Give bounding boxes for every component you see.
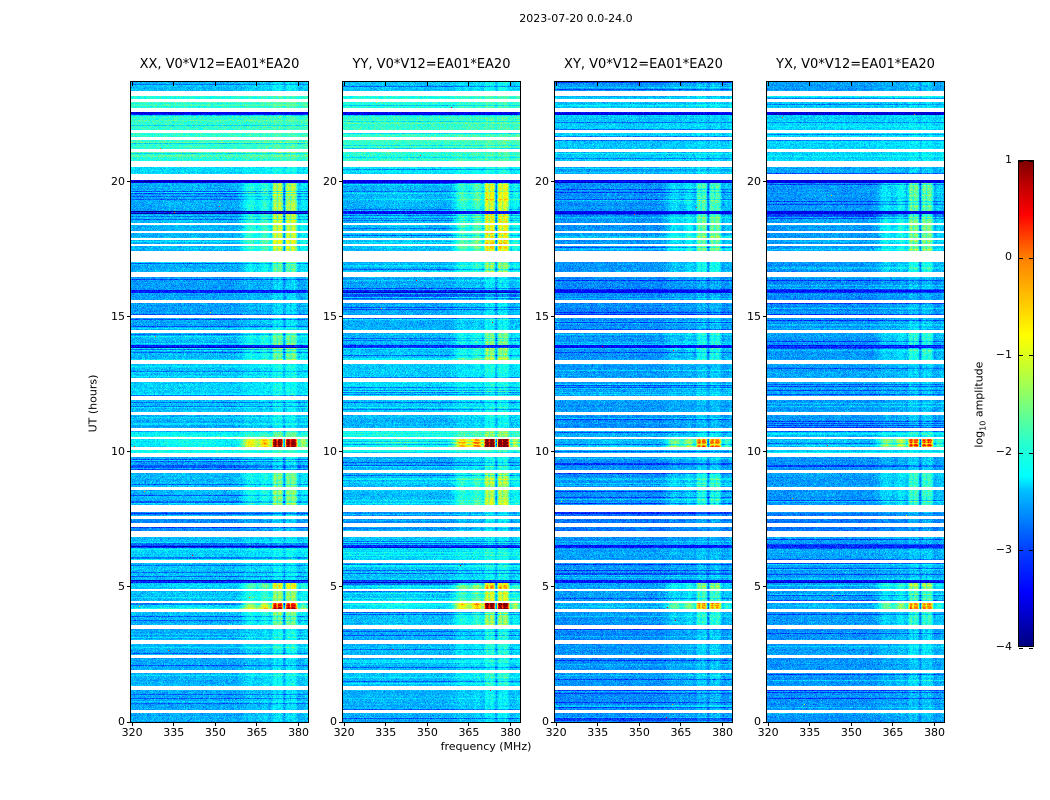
- y-tick-mark: [551, 451, 555, 452]
- colorbar-tick-label: 1: [962, 154, 1012, 165]
- colorbar-label: log10 amplitude: [972, 355, 987, 455]
- y-tick-mark: [551, 181, 555, 182]
- y-tick-label: 15: [283, 311, 337, 322]
- waterfall-panel-yy[interactable]: YY, V0*V12=EA01*EA2005101520320335350365…: [343, 82, 520, 722]
- x-tick-mark-top: [215, 82, 216, 86]
- x-axis-label: frequency (MHz): [386, 740, 586, 753]
- y-tick-label: 20: [71, 176, 125, 187]
- x-tick-mark-top: [344, 82, 345, 86]
- y-tick-label: 10: [283, 446, 337, 457]
- y-tick-mark: [339, 722, 343, 723]
- colorbar-tick-mark: [1019, 648, 1023, 649]
- y-tick-mark: [127, 722, 131, 723]
- x-tick-mark-top: [132, 82, 133, 86]
- y-tick-mark: [127, 586, 131, 587]
- colorbar-label-suffix: amplitude: [972, 362, 985, 421]
- x-tick-mark-top: [427, 82, 428, 86]
- y-tick-label: 15: [71, 311, 125, 322]
- y-tick-mark: [551, 722, 555, 723]
- x-tick-mark-top: [934, 82, 935, 86]
- figure-title: 2023-07-20 0.0-24.0: [376, 13, 776, 25]
- y-tick-label: 20: [707, 176, 761, 187]
- x-tick-mark-top: [256, 82, 257, 86]
- x-tick-mark-top: [597, 82, 598, 86]
- x-tick-mark-top: [510, 82, 511, 86]
- y-tick-label: 5: [707, 581, 761, 592]
- x-tick-mark-top: [722, 82, 723, 86]
- y-tick-label: 5: [283, 581, 337, 592]
- y-tick-mark: [339, 181, 343, 182]
- y-tick-mark: [127, 316, 131, 317]
- waterfall-image: [555, 82, 732, 722]
- x-tick-label: 380: [910, 727, 960, 738]
- colorbar-tick-mark: [1029, 648, 1033, 649]
- waterfall-panel-xx[interactable]: XX, V0*V12=EA01*EA2005101520320335350365…: [131, 82, 308, 722]
- x-tick-mark-top: [639, 82, 640, 86]
- x-tick-label: 380: [698, 727, 748, 738]
- waterfall-image: [131, 82, 308, 722]
- y-tick-mark: [551, 316, 555, 317]
- waterfall-image: [767, 82, 944, 722]
- y-tick-mark: [127, 181, 131, 182]
- x-tick-mark-top: [892, 82, 893, 86]
- colorbar-gradient: [1019, 161, 1033, 646]
- waterfall-panel-xy[interactable]: XY, V0*V12=EA01*EA2005101520320335350365…: [555, 82, 732, 722]
- y-tick-label: 10: [495, 446, 549, 457]
- y-tick-mark: [763, 451, 767, 452]
- y-tick-label: 15: [707, 311, 761, 322]
- y-tick-mark: [339, 586, 343, 587]
- colorbar-tick-mark: [1019, 258, 1023, 259]
- colorbar-tick-label: 0: [962, 251, 1012, 262]
- colorbar-label-prefix: log: [972, 431, 985, 448]
- y-tick-mark: [763, 181, 767, 182]
- y-tick-mark: [339, 451, 343, 452]
- colorbar-tick-mark: [1029, 161, 1033, 162]
- y-tick-label: 5: [71, 581, 125, 592]
- y-tick-label: 0: [495, 716, 549, 727]
- panel-title: YX, V0*V12=EA01*EA20: [727, 58, 984, 72]
- x-tick-label: 380: [486, 727, 536, 738]
- figure-canvas: 2023-07-20 0.0-24.0 XX, V0*V12=EA01*EA20…: [0, 0, 1050, 800]
- y-tick-mark: [551, 586, 555, 587]
- x-tick-mark-top: [680, 82, 681, 86]
- y-tick-mark: [763, 586, 767, 587]
- colorbar-tick-label: −3: [962, 544, 1012, 555]
- colorbar-tick-mark: [1019, 355, 1023, 356]
- y-tick-label: 15: [495, 311, 549, 322]
- y-tick-mark: [763, 316, 767, 317]
- x-tick-mark-top: [809, 82, 810, 86]
- colorbar-label-subscript: 10: [979, 421, 988, 431]
- x-tick-mark-top: [768, 82, 769, 86]
- y-tick-label: 20: [495, 176, 549, 187]
- y-tick-mark: [127, 451, 131, 452]
- colorbar-tick-mark: [1019, 453, 1023, 454]
- x-tick-mark-top: [298, 82, 299, 86]
- y-tick-mark: [763, 722, 767, 723]
- waterfall-image: [343, 82, 520, 722]
- colorbar-tick-mark: [1019, 550, 1023, 551]
- colorbar-tick-mark: [1019, 161, 1023, 162]
- x-tick-mark-top: [468, 82, 469, 86]
- x-tick-mark-top: [556, 82, 557, 86]
- y-tick-label: 0: [707, 716, 761, 727]
- colorbar-tick-mark: [1029, 453, 1033, 454]
- y-tick-mark: [339, 316, 343, 317]
- x-tick-mark-top: [173, 82, 174, 86]
- y-tick-label: 5: [495, 581, 549, 592]
- y-tick-label: 20: [283, 176, 337, 187]
- x-tick-label: 380: [274, 727, 324, 738]
- y-axis-label: UT (hours): [87, 354, 100, 454]
- colorbar-tick-mark: [1029, 355, 1033, 356]
- colorbar-tick-mark: [1029, 550, 1033, 551]
- x-tick-mark-top: [851, 82, 852, 86]
- y-tick-label: 0: [283, 716, 337, 727]
- colorbar-tick-label: −4: [962, 641, 1012, 652]
- y-tick-label: 0: [71, 716, 125, 727]
- colorbar[interactable]: [1018, 160, 1034, 647]
- y-tick-label: 10: [707, 446, 761, 457]
- x-tick-mark-top: [385, 82, 386, 86]
- colorbar-tick-mark: [1029, 258, 1033, 259]
- waterfall-panel-yx[interactable]: YX, V0*V12=EA01*EA2005101520320335350365…: [767, 82, 944, 722]
